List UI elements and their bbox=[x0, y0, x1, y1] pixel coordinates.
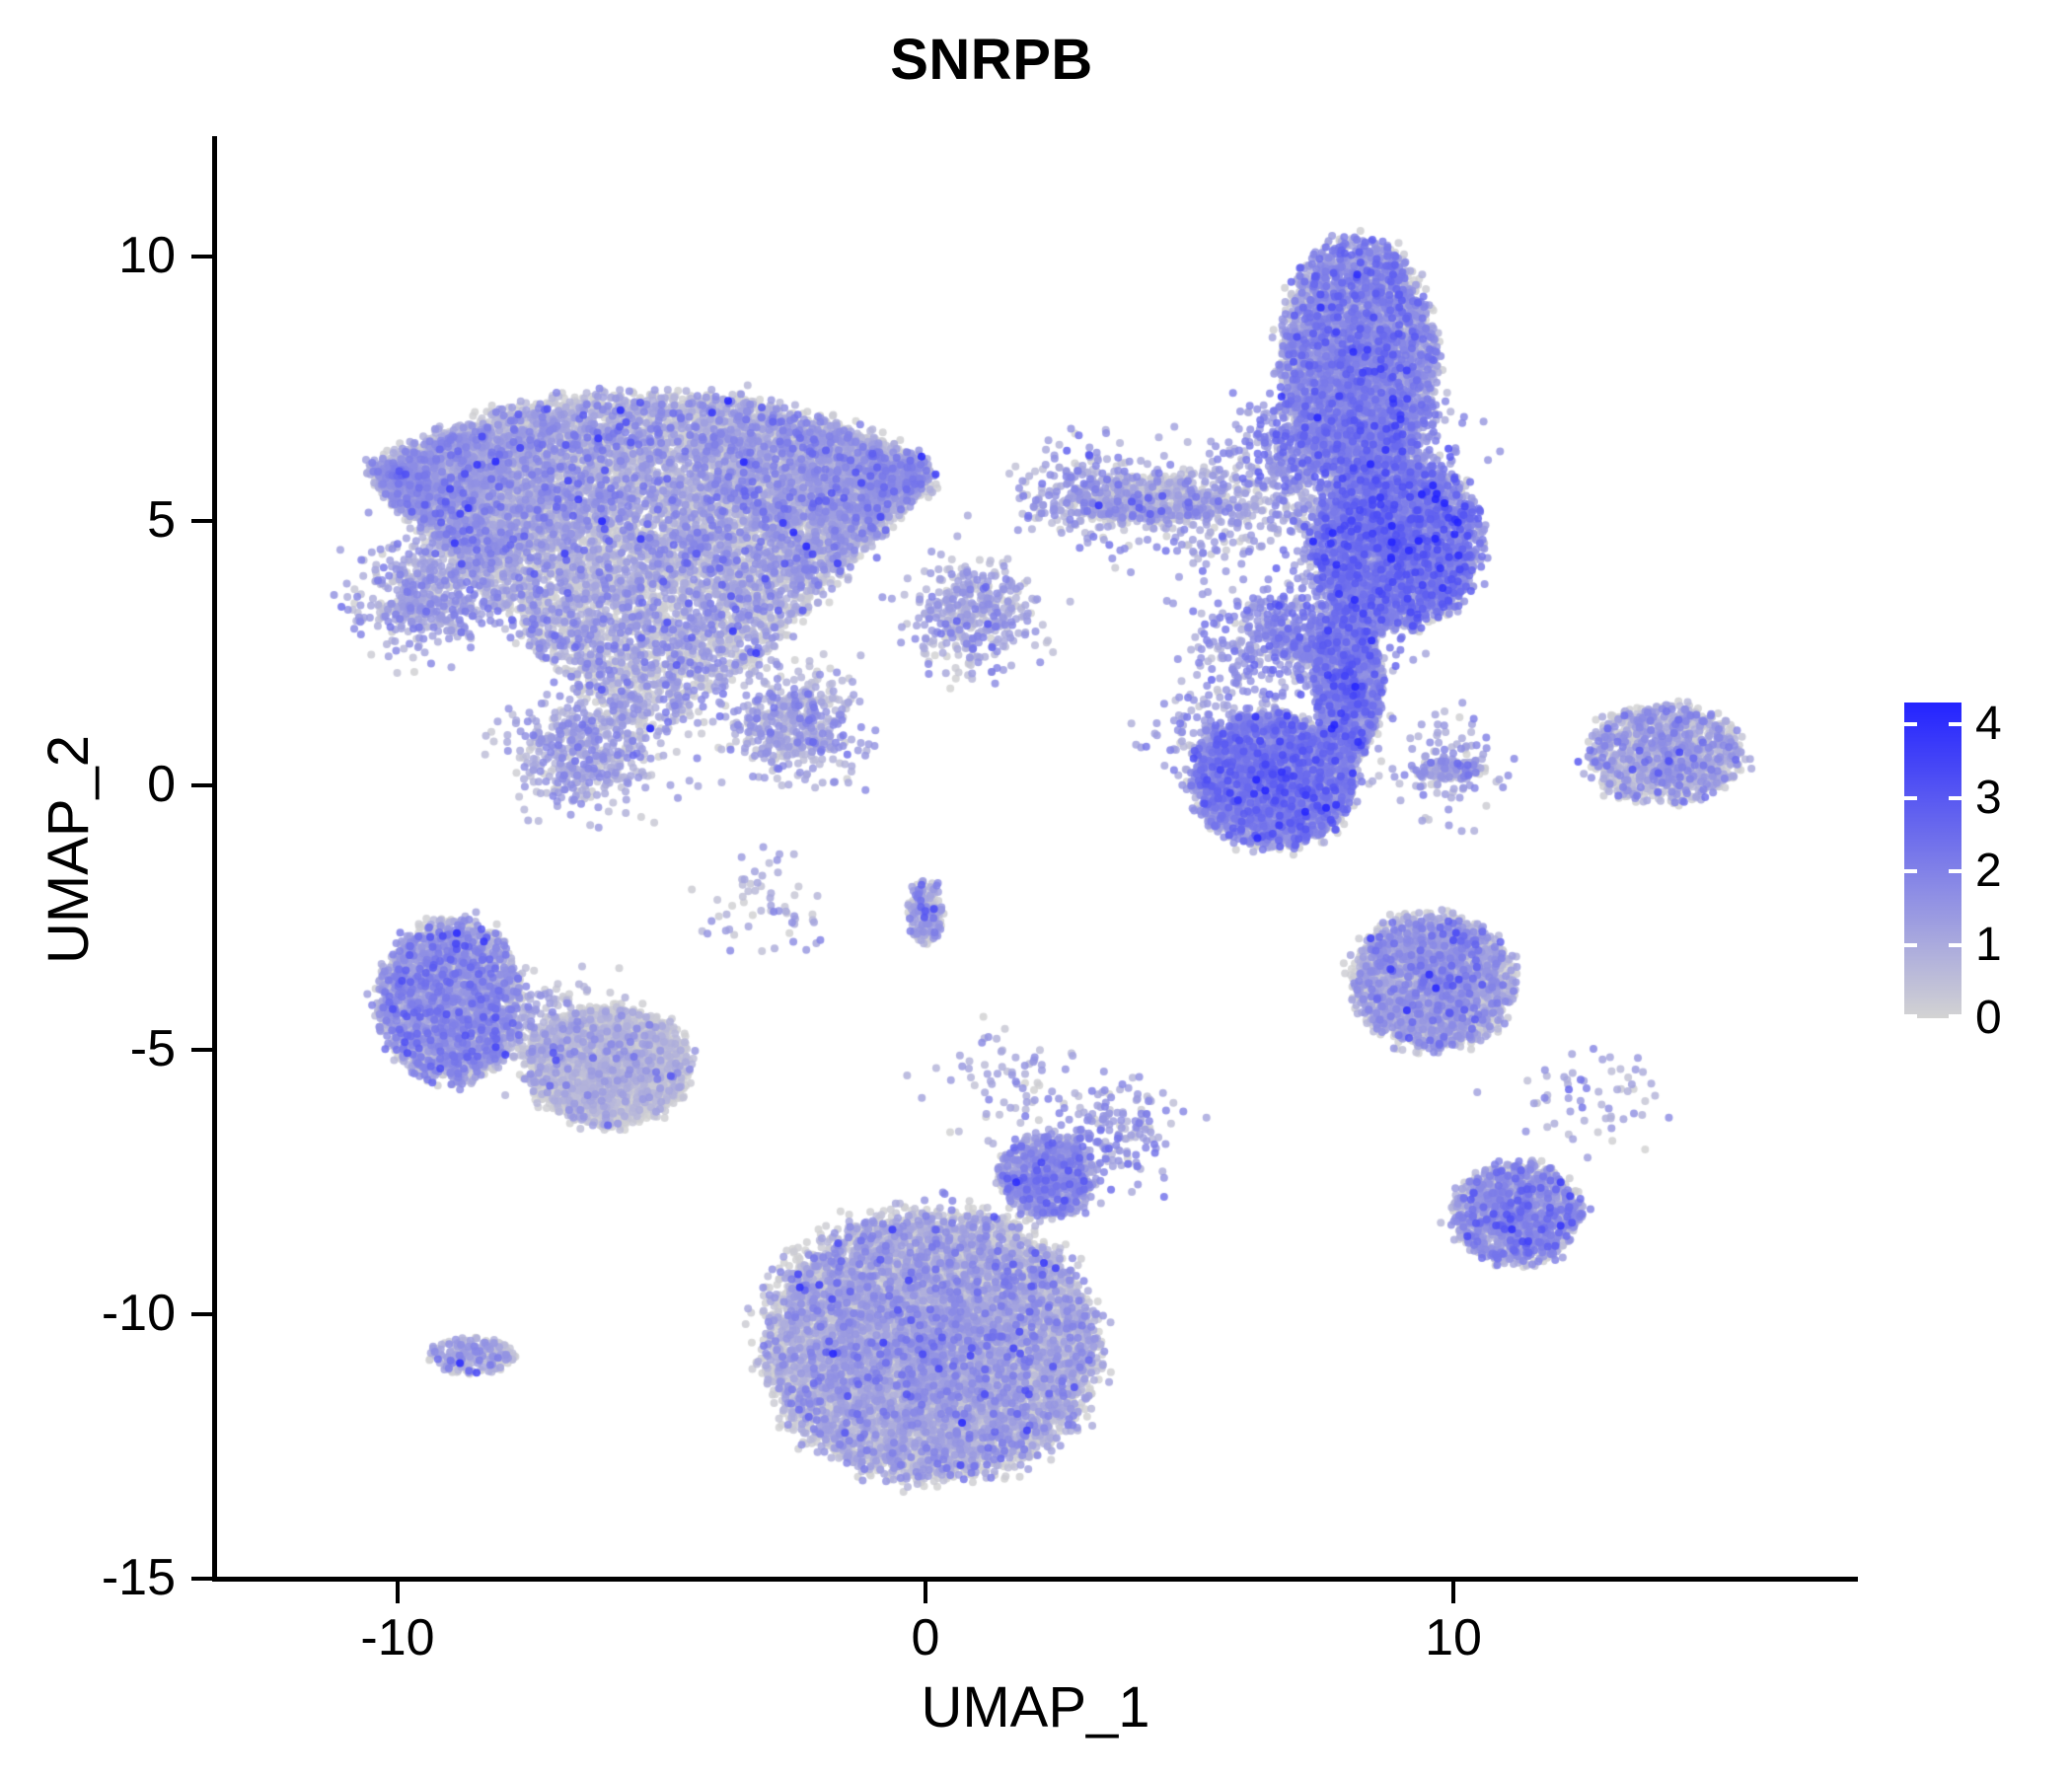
colorbar-tick-label: 0 bbox=[1975, 995, 2002, 1042]
x-tick-label: -10 bbox=[309, 1612, 486, 1664]
y-tick-mark bbox=[191, 1048, 213, 1052]
page-title: SNRPB bbox=[0, 26, 1983, 95]
colorbar-tick-mark bbox=[1904, 869, 1917, 873]
y-axis-title: UMAP_2 bbox=[38, 406, 100, 1294]
colorbar-tick-mark bbox=[1949, 796, 1961, 800]
colorbar-tick-mark bbox=[1904, 722, 1917, 726]
x-tick-mark bbox=[924, 1582, 927, 1603]
y-tick-mark bbox=[191, 255, 213, 259]
colorbar-tick-mark bbox=[1949, 722, 1961, 726]
colorbar-tick-mark bbox=[1949, 869, 1961, 873]
colorbar-tick-mark bbox=[1904, 796, 1917, 800]
x-tick-label: 10 bbox=[1365, 1612, 1542, 1664]
colorbar-tick-mark bbox=[1949, 1014, 1961, 1018]
figure-root: SNRPB 1050-5-10-15 -10010 UMAP_1 UMAP_2 … bbox=[0, 0, 2072, 1776]
legend-colorbar: 43210 bbox=[1904, 691, 2062, 1046]
x-tick-mark bbox=[1451, 1582, 1455, 1603]
y-tick-mark bbox=[191, 519, 213, 523]
y-tick-label: 10 bbox=[0, 230, 176, 281]
colorbar-tick-label: 4 bbox=[1975, 701, 2002, 748]
y-tick-label: -15 bbox=[0, 1552, 176, 1603]
colorbar-tick-mark bbox=[1904, 1014, 1917, 1018]
x-axis-line bbox=[212, 1577, 1858, 1582]
colorbar bbox=[1904, 703, 1961, 1018]
y-tick-mark bbox=[191, 1312, 213, 1316]
plot-panel bbox=[216, 138, 1855, 1580]
y-tick-mark bbox=[191, 1577, 213, 1581]
y-tick-mark bbox=[191, 783, 213, 787]
colorbar-tick-mark bbox=[1949, 943, 1961, 947]
x-tick-label: 0 bbox=[837, 1612, 1014, 1664]
colorbar-tick-mark bbox=[1904, 943, 1917, 947]
x-tick-mark bbox=[396, 1582, 400, 1603]
scatter-plot-canvas bbox=[216, 138, 1855, 1580]
colorbar-tick-label: 3 bbox=[1975, 775, 2002, 822]
colorbar-tick-label: 2 bbox=[1975, 848, 2002, 895]
y-tick-label: -10 bbox=[0, 1288, 176, 1339]
colorbar-gradient bbox=[1904, 703, 1961, 1018]
x-axis-title: UMAP_1 bbox=[216, 1677, 1855, 1739]
y-axis-line bbox=[212, 136, 217, 1581]
colorbar-tick-label: 1 bbox=[1975, 922, 2002, 969]
